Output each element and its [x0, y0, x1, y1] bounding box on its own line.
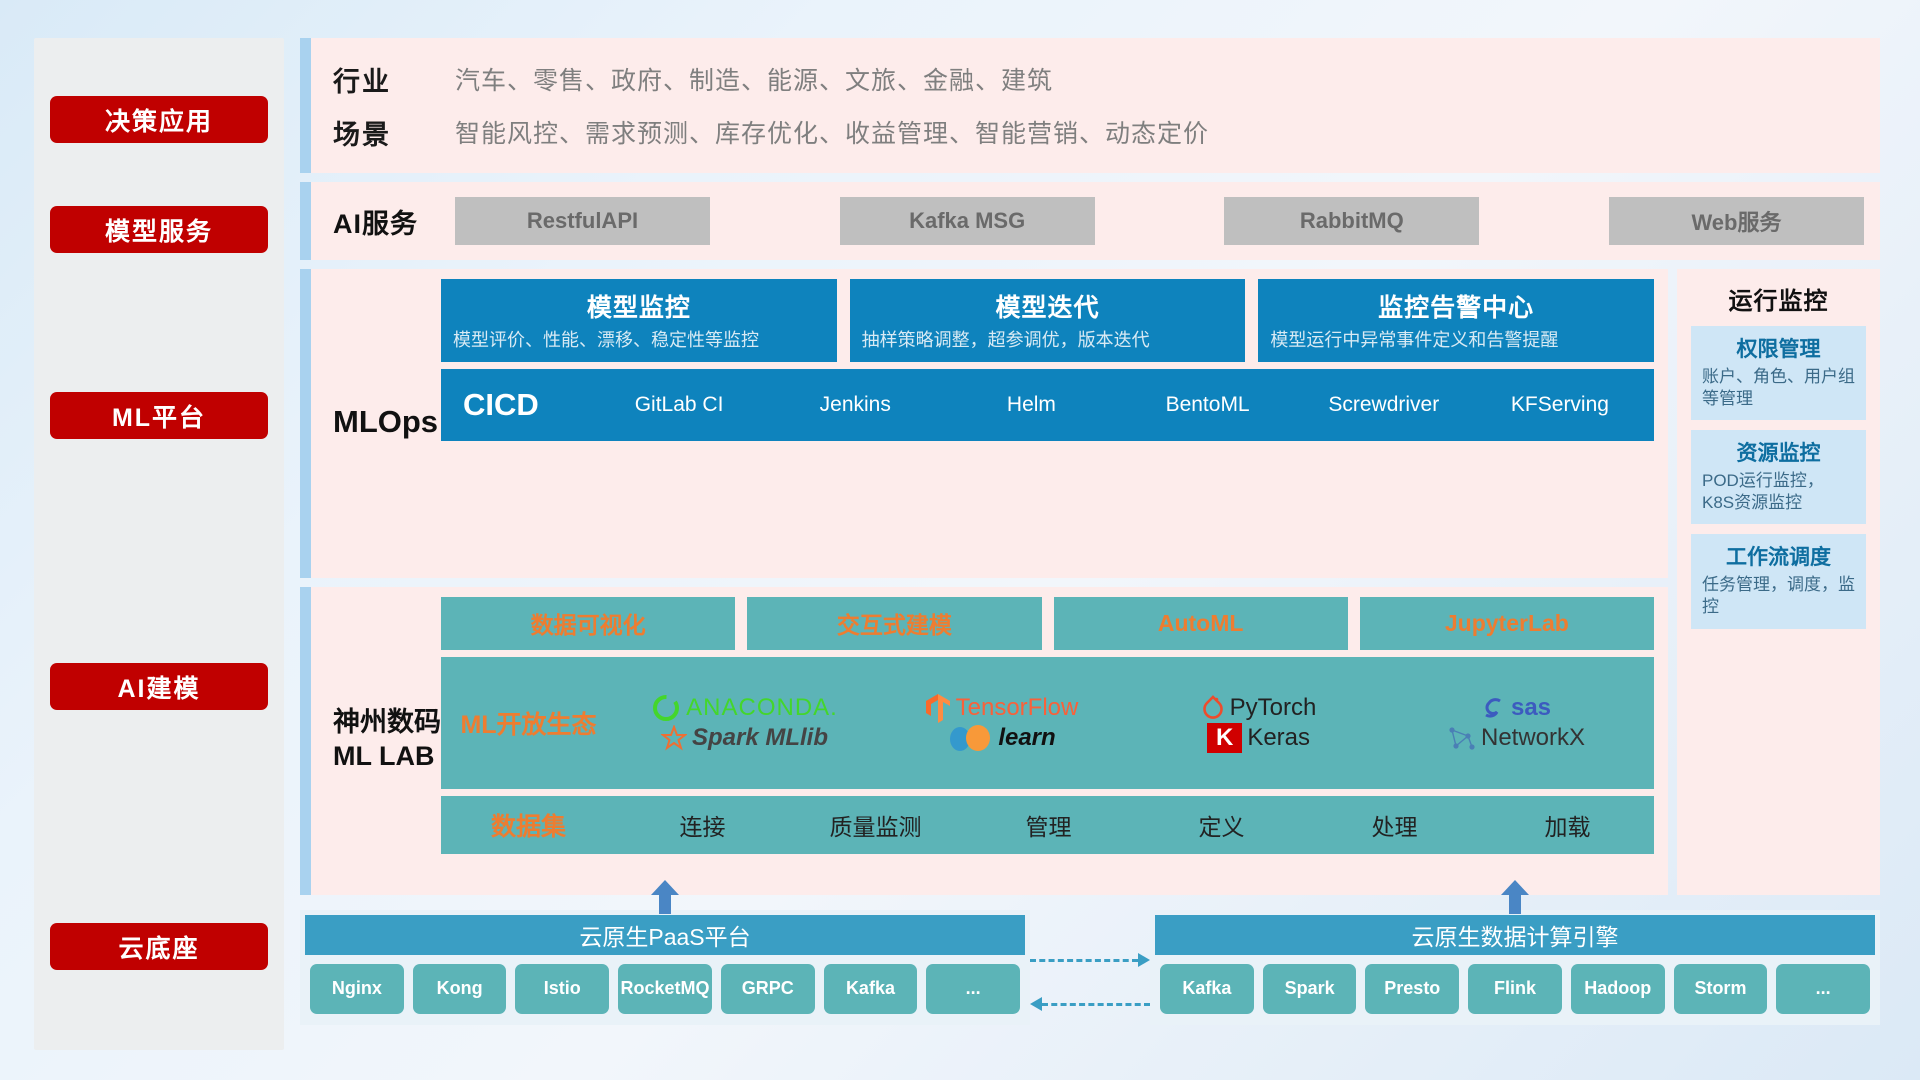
up-arrow-icon-right [1498, 880, 1532, 914]
chip-hadoop[interactable]: Hadoop [1571, 964, 1665, 1014]
arrow-left [1030, 1002, 1150, 1006]
dataset-row: 数据集 连接 质量监测 管理 定义 处理 加载 [441, 796, 1654, 854]
chip-storm[interactable]: Storm [1674, 964, 1768, 1014]
cloud-base-band: 云原生PaaS平台 Nginx Kong Istio RocketMQ GRPC… [300, 904, 1880, 1050]
chip-istio[interactable]: Istio [515, 964, 609, 1014]
networkx-logo-text: NetworkX [1481, 724, 1585, 752]
sas-logo: sas [1480, 694, 1551, 722]
cicd-item-kfserving[interactable]: KFServing [1472, 393, 1648, 417]
dataset-items: 连接 质量监测 管理 定义 处理 加载 [616, 808, 1654, 842]
pytorch-mark-icon [1201, 693, 1225, 723]
card-desc: 模型运行中异常事件定义和告警提醒 [1270, 328, 1642, 352]
chip-kafka[interactable]: Kafka [824, 964, 918, 1014]
chip-more-left[interactable]: ... [926, 964, 1020, 1014]
spark-mllib-logo-text: Spark MLlib [692, 724, 828, 752]
card-desc: 模型评价、性能、漂移、稳定性等监控 [453, 328, 825, 352]
chip-nginx[interactable]: Nginx [310, 964, 404, 1014]
cicd-item-gitlab-ci[interactable]: GitLab CI [591, 393, 767, 417]
tile-jupyterlab[interactable]: JupyterLab [1360, 597, 1654, 650]
ml-ecosystem-label: ML开放生态 [441, 705, 616, 741]
mlops-content: 模型监控 模型评价、性能、漂移、稳定性等监控 模型迭代 抽样策略调整，超参调优，… [441, 279, 1654, 566]
ml-lab-label: 神州数码 ML LAB [333, 597, 441, 884]
dash-line [1042, 1003, 1150, 1006]
chip-kafka-right[interactable]: Kafka [1160, 964, 1254, 1014]
rail-item-ml-platform[interactable]: ML平台 [50, 392, 268, 439]
chip-flink[interactable]: Flink [1468, 964, 1562, 1014]
rail-label: 模型服务 [105, 212, 213, 248]
dataset-item-define[interactable]: 定义 [1135, 808, 1308, 842]
ai-service-label: AI服务 [333, 202, 455, 241]
industry-values: 汽车、零售、政府、制造、能源、文旅、金融、建筑 [455, 61, 1053, 97]
spark-mllib-logo: Spark MLlib [661, 724, 828, 752]
rail-item-decision[interactable]: 决策应用 [50, 96, 268, 143]
scikit-learn-logo: learn [947, 723, 1055, 753]
bidirectional-arrows [1030, 910, 1150, 1006]
chip-grpc[interactable]: GRPC [721, 964, 815, 1014]
anaconda-logo: ANACONDA. [651, 693, 838, 723]
cicd-label: CICD [463, 387, 591, 423]
rail-label: ML平台 [112, 398, 206, 434]
rail-label: 决策应用 [105, 102, 213, 138]
architecture-diagram: 决策应用 模型服务 ML平台 AI建模 云底座 行业 汽车、零售、政府、制造、能… [0, 0, 1920, 1080]
rail-item-ai-modeling[interactable]: AI建模 [50, 663, 268, 710]
cicd-items: GitLab CI Jenkins Helm BentoML Screwdriv… [591, 393, 1648, 417]
ml-lab-tiles: 数据可视化 交互式建模 AutoML JupyterLab [441, 597, 1654, 650]
industry-row: 行业 汽车、零售、政府、制造、能源、文旅、金融、建筑 [333, 60, 1862, 99]
sas-mark-icon [1480, 695, 1506, 721]
arrow-head-right-icon [1138, 953, 1150, 967]
dataset-item-manage[interactable]: 管理 [962, 808, 1135, 842]
monitor-card-permission[interactable]: 权限管理 账户、角色、用户组等管理 [1691, 326, 1866, 420]
runtime-monitor-column: 运行监控 权限管理 账户、角色、用户组等管理 资源监控 POD运行监控，K8S资… [1677, 269, 1880, 895]
networkx-mark-icon [1446, 724, 1476, 752]
arrow-head-left-icon [1030, 997, 1042, 1011]
ai-service-band: AI服务 RestfulAPI Kafka MSG RabbitMQ Web服务 [300, 182, 1880, 260]
cloud-paas-column: 云原生PaaS平台 Nginx Kong Istio RocketMQ GRPC… [300, 910, 1030, 1025]
chip-presto[interactable]: Presto [1365, 964, 1459, 1014]
card-title: 工作流调度 [1702, 541, 1855, 571]
card-title: 权限管理 [1702, 333, 1855, 363]
service-box-rabbitmq[interactable]: RabbitMQ [1224, 197, 1479, 245]
anaconda-mark-icon [651, 693, 681, 723]
mlops-card-alert-center[interactable]: 监控告警中心 模型运行中异常事件定义和告警提醒 [1258, 279, 1654, 362]
card-desc: 账户、角色、用户组等管理 [1702, 366, 1855, 410]
dataset-label: 数据集 [441, 807, 616, 843]
chip-rocketmq[interactable]: RocketMQ [618, 964, 712, 1014]
cloud-data-engine-chips: Kafka Spark Presto Flink Hadoop Storm ..… [1155, 955, 1875, 1020]
layers-stack: 行业 汽车、零售、政府、制造、能源、文旅、金融、建筑 场景 智能风控、需求预测、… [300, 38, 1880, 1050]
chip-spark[interactable]: Spark [1263, 964, 1357, 1014]
platform-bands: MLOps 模型监控 模型评价、性能、漂移、稳定性等监控 模型迭代 抽样策略调整… [300, 269, 1668, 895]
cloud-paas-title: 云原生PaaS平台 [305, 915, 1025, 955]
ai-service-boxes: RestfulAPI Kafka MSG RabbitMQ Web服务 [455, 197, 1880, 245]
mlops-card-model-monitor[interactable]: 模型监控 模型评价、性能、漂移、稳定性等监控 [441, 279, 837, 362]
card-title: 资源监控 [1702, 437, 1855, 467]
dataset-item-load[interactable]: 加载 [1481, 808, 1654, 842]
tile-automl[interactable]: AutoML [1054, 597, 1348, 650]
rail-item-model-service[interactable]: 模型服务 [50, 206, 268, 253]
industry-label: 行业 [333, 60, 455, 99]
chip-kong[interactable]: Kong [413, 964, 507, 1014]
rail-label: AI建模 [117, 669, 200, 705]
tile-data-visualization[interactable]: 数据可视化 [441, 597, 735, 650]
arrow-right [1030, 958, 1150, 962]
cicd-item-bentoml[interactable]: BentoML [1120, 393, 1296, 417]
scikit-learn-mark-icon [947, 723, 993, 753]
runtime-monitor-title: 运行监控 [1729, 281, 1829, 316]
cicd-item-screwdriver[interactable]: Screwdriver [1296, 393, 1472, 417]
service-box-kafka-msg[interactable]: Kafka MSG [840, 197, 1095, 245]
monitor-card-resource[interactable]: 资源监控 POD运行监控，K8S资源监控 [1691, 430, 1866, 524]
card-title: 模型监控 [453, 288, 825, 324]
keras-logo-text: Keras [1247, 724, 1310, 752]
tensorflow-mark-icon [925, 693, 951, 723]
cicd-row: CICD GitLab CI Jenkins Helm BentoML Scre… [441, 369, 1654, 441]
scikit-learn-logo-text: learn [998, 724, 1055, 752]
rail-item-cloud-base[interactable]: 云底座 [50, 923, 268, 970]
mlops-band: MLOps 模型监控 模型评价、性能、漂移、稳定性等监控 模型迭代 抽样策略调整… [300, 269, 1668, 578]
rail-label: 云底座 [118, 929, 199, 965]
ml-ecosystem-logos: ANACONDA. TensorFlow [616, 693, 1644, 753]
cloud-data-engine-column: 云原生数据计算引擎 Kafka Spark Presto Flink Hadoo… [1150, 910, 1880, 1025]
mlops-label: MLOps [333, 279, 441, 566]
mlops-cards: 模型监控 模型评价、性能、漂移、稳定性等监控 模型迭代 抽样策略调整，超参调优，… [441, 279, 1654, 362]
dataset-item-quality[interactable]: 质量监测 [789, 808, 962, 842]
keras-logo: K Keras [1207, 723, 1310, 753]
service-box-restfulapi[interactable]: RestfulAPI [455, 197, 710, 245]
keras-mark-icon: K [1207, 723, 1242, 753]
networkx-logo: NetworkX [1446, 724, 1585, 752]
chip-more-right[interactable]: ... [1776, 964, 1870, 1014]
tile-interactive-modeling[interactable]: 交互式建模 [747, 597, 1041, 650]
decision-application-band: 行业 汽车、零售、政府、制造、能源、文旅、金融、建筑 场景 智能风控、需求预测、… [300, 38, 1880, 173]
cicd-item-jenkins[interactable]: Jenkins [767, 393, 943, 417]
monitor-card-workflow[interactable]: 工作流调度 任务管理，调度，监控 [1691, 534, 1866, 628]
tensorflow-logo: TensorFlow [925, 693, 1079, 723]
platform-and-monitor: MLOps 模型监控 模型评价、性能、漂移、稳定性等监控 模型迭代 抽样策略调整… [300, 269, 1880, 895]
ml-lab-band: 神州数码 ML LAB 数据可视化 交互式建模 AutoML JupyterLa… [300, 587, 1668, 896]
scenario-row: 场景 智能风控、需求预测、库存优化、收益管理、智能营销、动态定价 [333, 113, 1862, 152]
anaconda-logo-text: ANACONDA. [686, 694, 838, 722]
mlops-card-model-iteration[interactable]: 模型迭代 抽样策略调整，超参调优，版本迭代 [850, 279, 1246, 362]
cicd-item-helm[interactable]: Helm [943, 393, 1119, 417]
dataset-item-connect[interactable]: 连接 [616, 808, 789, 842]
card-title: 监控告警中心 [1270, 288, 1642, 324]
dash-line [1030, 959, 1138, 962]
ml-ecosystem-row: ML开放生态 ANACONDA. [441, 657, 1654, 789]
pytorch-logo: PyTorch [1201, 693, 1317, 723]
card-desc: POD运行监控，K8S资源监控 [1702, 470, 1855, 514]
dataset-item-process[interactable]: 处理 [1308, 808, 1481, 842]
spark-star-icon [661, 725, 687, 751]
cloud-data-engine-title: 云原生数据计算引擎 [1155, 915, 1875, 955]
up-arrow-icon-left [648, 880, 682, 914]
scenario-label: 场景 [333, 113, 455, 152]
scenario-values: 智能风控、需求预测、库存优化、收益管理、智能营销、动态定价 [455, 114, 1209, 150]
card-desc: 抽样策略调整，超参调优，版本迭代 [862, 328, 1234, 352]
card-desc: 任务管理，调度，监控 [1702, 574, 1855, 618]
sas-logo-text: sas [1511, 694, 1551, 722]
tensorflow-logo-text: TensorFlow [956, 694, 1079, 722]
cloud-paas-chips: Nginx Kong Istio RocketMQ GRPC Kafka ... [305, 955, 1025, 1020]
layer-rail: 决策应用 模型服务 ML平台 AI建模 云底座 [34, 38, 284, 1050]
ml-lab-label-text: 神州数码 ML LAB [333, 706, 441, 774]
ml-lab-content: 数据可视化 交互式建模 AutoML JupyterLab ML开放生态 [441, 597, 1654, 884]
pytorch-logo-text: PyTorch [1230, 694, 1317, 722]
service-box-web[interactable]: Web服务 [1609, 197, 1864, 245]
card-title: 模型迭代 [862, 288, 1234, 324]
